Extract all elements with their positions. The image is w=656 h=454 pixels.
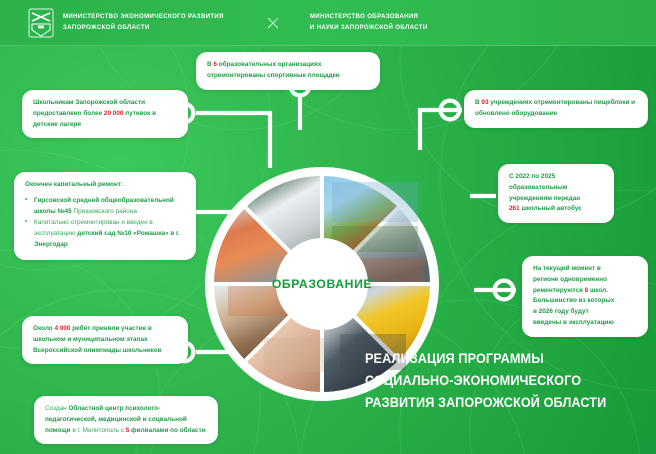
- buses-line3: учреждениям передан: [509, 194, 603, 205]
- infographic-canvas: МИНИСТЕРСТВО ЭКОНОМИЧЕСКОГО РАЗВИТИЯ ЗАП…: [0, 0, 656, 454]
- callout-kitchen-blocks: В 93 учреждениях отремонтированы пищебло…: [464, 90, 648, 128]
- callout-summer-camps: Школьникам Запорожской области предостав…: [22, 90, 188, 138]
- callout-schools-under-repair: На текущий момент в регионе одновременно…: [522, 256, 648, 337]
- psych-plain-pre: Создан: [45, 405, 68, 412]
- repairing-line1: На текущий момент в: [533, 264, 637, 275]
- repairing-line3-wrap: ремонтируются 8 школ.: [533, 286, 637, 297]
- overhaul-title: Окончен капитальный ремонт:: [25, 180, 185, 191]
- program-headline: РЕАЛИЗАЦИЯ ПРОГРАММЫ СОЦИАЛЬНО-ЭКОНОМИЧЕ…: [365, 348, 626, 414]
- overhaul-list: Гирсовской средней общеобразовательной ш…: [25, 196, 185, 251]
- sport-text-after: образовательных организациях отремонтиро…: [207, 61, 340, 79]
- repairing-line4: Большинство из которых: [533, 296, 637, 307]
- kitchen-number: 93: [481, 99, 488, 106]
- buses-line4-wrap: 261 школьный автобус: [509, 204, 603, 215]
- x-cross-icon: [266, 16, 280, 30]
- repairing-line6: введены в эксплуатацию: [533, 318, 637, 329]
- callout-psych-center: Создан Областной центр психолого-педагог…: [34, 396, 218, 444]
- repairing-line5: в 2026 году будут: [533, 307, 637, 318]
- buses-line4: школьный автобус: [520, 205, 582, 212]
- overhaul-item1-plain: Приазовского района: [72, 208, 137, 215]
- callout-school-buses: С 2022 по 2025 образовательным учреждени…: [498, 164, 614, 223]
- psych-plain-mid: в г. Мелитополь с: [71, 427, 126, 434]
- camps-number: 20 000: [104, 110, 124, 117]
- repairing-line3-post: школ.: [588, 287, 608, 294]
- buses-line2: образовательным: [509, 183, 603, 194]
- callout-sport-grounds: В 6 образовательных организациях отремон…: [196, 52, 380, 90]
- olympiad-number: 4 000: [54, 325, 70, 332]
- psych-plain-post: филиалами по области: [129, 427, 205, 434]
- olympiad-text-before: Около: [33, 325, 54, 332]
- buses-line1: С 2022 по 2025: [509, 172, 603, 183]
- repairing-line3-pre: ремонтируются: [533, 287, 585, 294]
- list-item: Гирсовской средней общеобразовательной ш…: [25, 196, 185, 218]
- repairing-line2: регионе одновременно: [533, 275, 637, 286]
- ministry-education-label: МИНИСТЕРСТВО ОБРАЗОВАНИЯ И НАУКИ ЗАПОРОЖ…: [310, 12, 428, 33]
- list-item: Капитально отремонтирован и введен в экс…: [25, 218, 185, 250]
- coat-of-arms-icon: [28, 8, 54, 38]
- callout-olympiad: Около 4 000 ребят приняли участие в школ…: [22, 316, 188, 364]
- ministry-economy-label: МИНИСТЕРСТВО ЭКОНОМИЧЕСКОГО РАЗВИТИЯ ЗАП…: [63, 12, 224, 33]
- buses-number: 261: [509, 205, 520, 212]
- header-bar: МИНИСТЕРСТВО ЭКОНОМИЧЕСКОГО РАЗВИТИЯ ЗАП…: [0, 0, 656, 46]
- wheel-center-label: ОБРАЗОВАНИЕ: [268, 277, 376, 291]
- kitchen-text-after: учреждениях отремонтированы пищеблоки и …: [475, 99, 635, 117]
- callout-capital-repair: Окончен капитальный ремонт: Гирсовской с…: [14, 172, 196, 260]
